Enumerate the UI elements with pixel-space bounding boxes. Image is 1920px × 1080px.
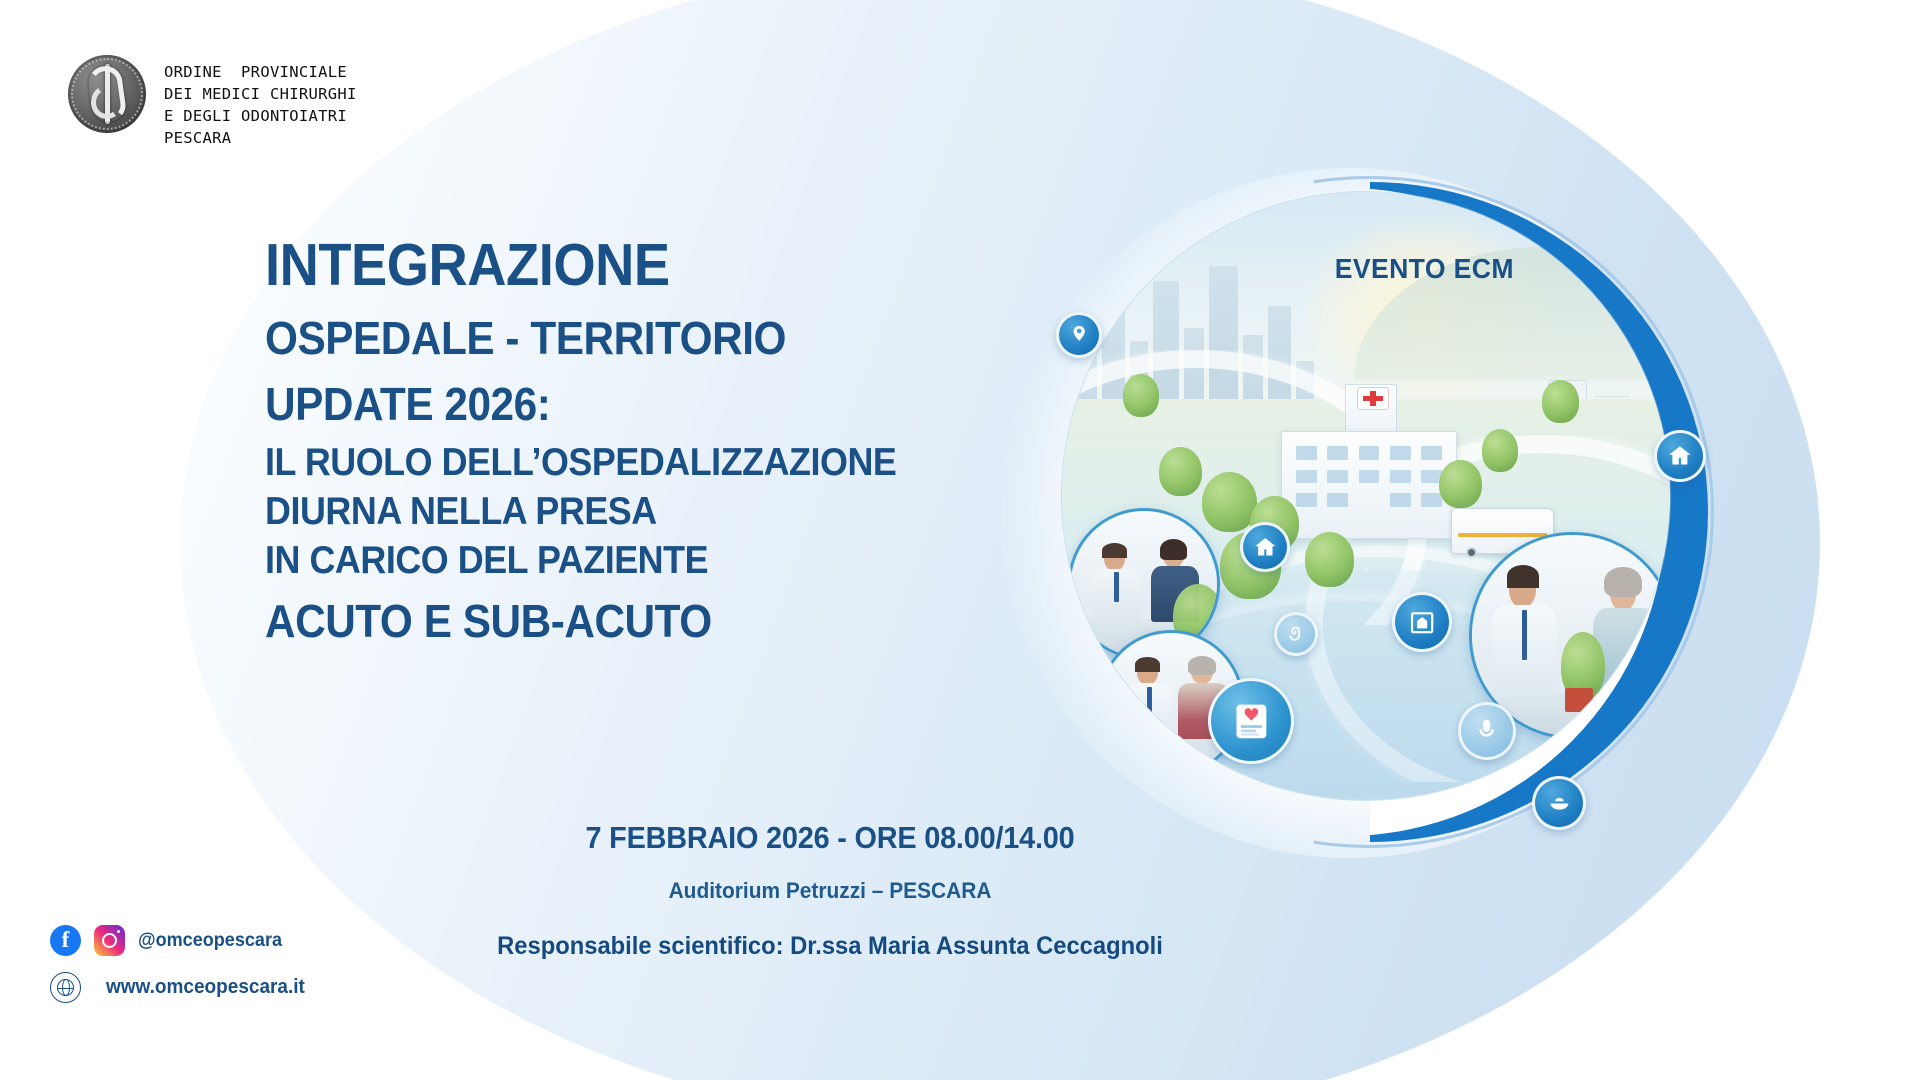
title-line-7: ACUTO E SUB-ACUTO [265, 598, 896, 644]
facebook-icon[interactable] [50, 925, 81, 956]
event-date-time: 7 FEBBRAIO 2026 - ORE 08.00/14.00 [467, 820, 1192, 856]
social-row-handles: @omceopescara [50, 925, 315, 956]
org-line-3: E DEGLI ODONTOIATRI [164, 107, 347, 125]
tree [1439, 460, 1482, 509]
evento-ecm-badge: EVENTO ECM [1335, 253, 1514, 285]
telemedicine-icon [1458, 702, 1516, 760]
title-line-5: DIURNA NELLA PRESA [265, 492, 896, 531]
location-pin-icon [1056, 312, 1102, 358]
handcare-icon [1532, 776, 1586, 830]
scientific-lead: Responsabile scientifico: Dr.ssa Maria A… [460, 932, 1201, 961]
title-line-6: IN CARICO DEL PAZIENTE [265, 541, 896, 580]
tree [1305, 532, 1354, 587]
organization-logo-block: ORDINE PROVINCIALE DEI MEDICI CHIRURGHI … [68, 55, 357, 149]
home-icon [1240, 522, 1290, 572]
home-care-icon [1392, 592, 1452, 652]
globe-icon[interactable] [50, 972, 81, 1003]
red-cross-sign [1357, 387, 1389, 410]
title-line-4: IL RUOLO DELL’OSPEDALIZZAZIONE [265, 443, 896, 482]
event-details: 7 FEBBRAIO 2026 - ORE 08.00/14.00 Audito… [440, 820, 1220, 961]
social-row-website: www.omceopescara.it [50, 972, 315, 1003]
instagram-icon[interactable] [94, 925, 125, 956]
org-line-2: DEI MEDICI CHIRURGHI [164, 85, 357, 103]
central-hospital-building [1269, 393, 1470, 539]
tree [1159, 447, 1202, 496]
title-line-3: UPDATE 2026: [265, 381, 896, 427]
org-line-4: PESCARA [164, 129, 231, 147]
title-line-1: INTEGRAZIONE [265, 236, 896, 295]
page-title: INTEGRAZIONE OSPEDALE - TERRITORIO UPDAT… [265, 236, 951, 644]
title-line-2: OSPEDALE - TERRITORIO [265, 315, 896, 361]
heart-tablet-icon [1208, 678, 1294, 764]
website-link[interactable]: www.omceopescara.it [106, 976, 305, 999]
tree [1482, 429, 1518, 472]
org-line-1: ORDINE PROVINCIALE [164, 63, 347, 81]
social-footer: @omceopescara www.omceopescara.it [50, 925, 315, 1019]
asclepius-coin-logo-icon [68, 55, 146, 133]
tree [1542, 380, 1578, 423]
event-venue: Auditorium Petruzzi – PESCARA [460, 878, 1201, 904]
tree [1123, 374, 1159, 417]
stethoscope-icon [1274, 612, 1318, 656]
organization-name: ORDINE PROVINCIALE DEI MEDICI CHIRURGHI … [164, 55, 357, 149]
social-handle[interactable]: @omceopescara [138, 930, 282, 952]
illustration-circle [1062, 192, 1692, 822]
home-icon [1654, 430, 1706, 482]
